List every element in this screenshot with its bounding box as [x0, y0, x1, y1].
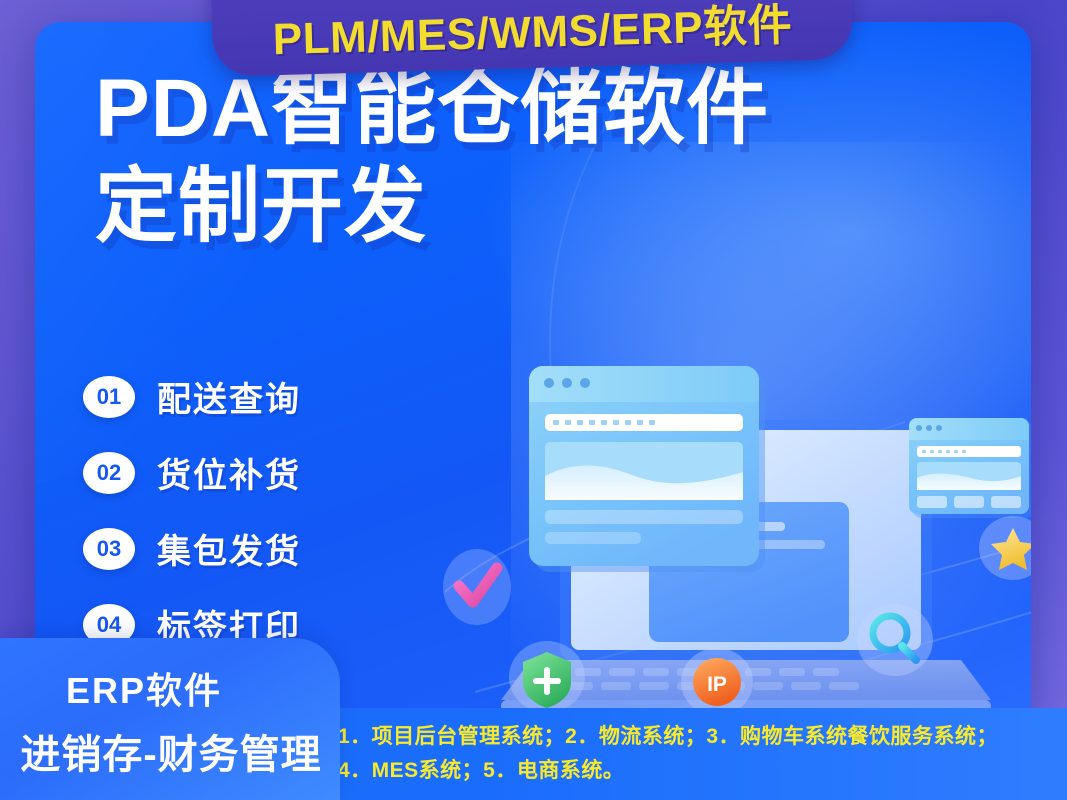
bottom-list-line-1: 1．项目后台管理系统；2．物流系统；3．购物车系统餐饮服务系统；: [338, 720, 1059, 754]
main-browser-window: [529, 366, 765, 572]
feature-label: 配送查询: [157, 372, 301, 421]
bottom-list-line-2: 4．MES系统；5．电商系统。: [338, 754, 1059, 788]
headline-line-1: PDA智能仓储软件: [95, 63, 769, 154]
laptop-software-illustration: IP: [435, 352, 1031, 728]
feature-label: 集包发货: [157, 524, 301, 573]
list-item: 02 货位补货: [83, 448, 301, 497]
feature-number-badge: 02: [83, 452, 135, 494]
headline-line-2: 定制开发: [95, 158, 1025, 256]
small-browser-window: [909, 418, 1031, 518]
check-icon: [443, 549, 511, 625]
svg-text:IP: IP: [707, 673, 727, 696]
search-icon: [857, 604, 933, 676]
shield-plus-icon: [509, 641, 585, 713]
feature-number-badge: 01: [83, 376, 135, 418]
feature-list: 01 配送查询 02 货位补货 03 集包发货 04 标签打印: [83, 372, 301, 676]
list-item: 01 配送查询: [83, 372, 301, 421]
erp-panel: ERP软件 进销存-财务管理: [0, 638, 340, 800]
list-item: 03 集包发货: [83, 524, 301, 573]
feature-number-badge: 03: [83, 528, 135, 570]
bottom-list-text: 1．项目后台管理系统；2．物流系统；3．购物车系统餐饮服务系统； 4．MES系统…: [338, 720, 1059, 788]
address-bar-dots: [553, 420, 655, 425]
window-dots-icon: [544, 378, 590, 388]
page-title: PDA智能仓储软件 定制开发: [95, 60, 1025, 256]
erp-panel-title: ERP软件: [0, 662, 288, 714]
small-window-dots-icon: [916, 425, 942, 431]
feature-label: 货位补货: [157, 448, 301, 497]
star-icon: [979, 516, 1031, 580]
erp-panel-subtitle: 进销存-财务管理: [8, 722, 334, 780]
ip-badge-icon: IP: [681, 648, 753, 716]
poster-stage: PDA智能仓储软件 定制开发 01 配送查询 02 货位补货 03 集包发货 0…: [0, 0, 1067, 800]
main-card: PDA智能仓储软件 定制开发 01 配送查询 02 货位补货 03 集包发货 0…: [35, 22, 1031, 728]
